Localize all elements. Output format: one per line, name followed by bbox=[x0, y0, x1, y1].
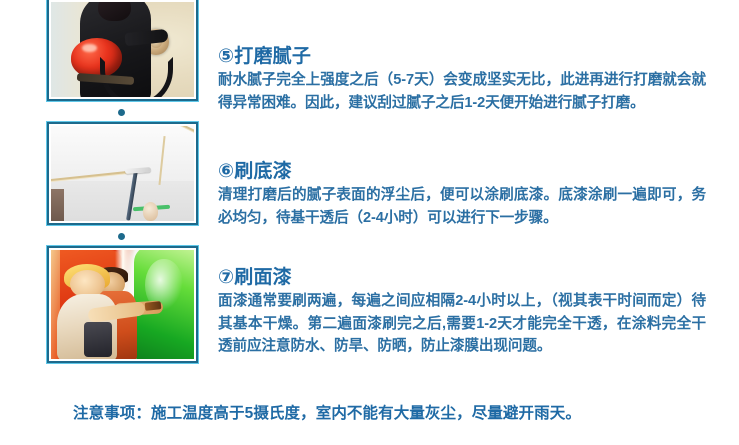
paint-process-infographic: { "theme": { "background": "#ffffff", "f… bbox=[0, 0, 739, 445]
step-section-primer: ⑥刷底漆 清理打磨后的腻子表面的浮尘后，便可以涂刷底漆。底漆涂刷一遍即可，务必均… bbox=[218, 160, 706, 229]
photo-frame-primer[interactable] bbox=[47, 122, 198, 225]
primer-coat-photo bbox=[51, 126, 194, 221]
step-title: ⑥刷底漆 bbox=[218, 160, 706, 184]
step-body: 清理打磨后的腻子表面的浮尘后，便可以涂刷底漆。底漆涂刷一遍即可，务必均匀，待基干… bbox=[218, 184, 706, 229]
step-body: 耐水腻子完全上强度之后（5-7天）会变成坚实无比，此进再进行打磨就会就得异常困难… bbox=[218, 69, 706, 114]
step-title: ⑦刷面漆 bbox=[218, 266, 706, 290]
step-title: ⑤打磨腻子 bbox=[218, 45, 706, 69]
photo-column bbox=[47, 0, 202, 365]
step-section-sanding: ⑤打磨腻子 耐水腻子完全上强度之后（5-7天）会变成坚实无比，此进再进行打磨就会… bbox=[218, 45, 706, 114]
separator-dot-icon bbox=[118, 109, 125, 116]
separator-dot-icon bbox=[118, 233, 125, 240]
step-section-topcoat: ⑦刷面漆 面漆通常要刷两遍，每遍之间应相隔2-4小时以上，（视其表干时间而定）待… bbox=[218, 266, 706, 358]
step-body: 面漆通常要刷两遍，每遍之间应相隔2-4小时以上，（视其表干时间而定）待其基本干燥… bbox=[218, 290, 706, 358]
topcoat-photo bbox=[51, 250, 194, 359]
worker-head bbox=[98, 2, 131, 21]
foreground-object bbox=[84, 322, 113, 357]
photo-frame-topcoat[interactable] bbox=[47, 246, 198, 363]
sanding-putty-photo bbox=[51, 2, 194, 97]
worker-hand bbox=[143, 202, 158, 221]
photo-frame-sanding[interactable] bbox=[47, 0, 198, 101]
tank-highlight bbox=[82, 44, 96, 53]
note-text: 注意事项：施工温度高于5摄氏度，室内不能有大量灰尘，尽量避开雨天。 bbox=[73, 403, 673, 425]
wall-edge bbox=[51, 189, 64, 221]
